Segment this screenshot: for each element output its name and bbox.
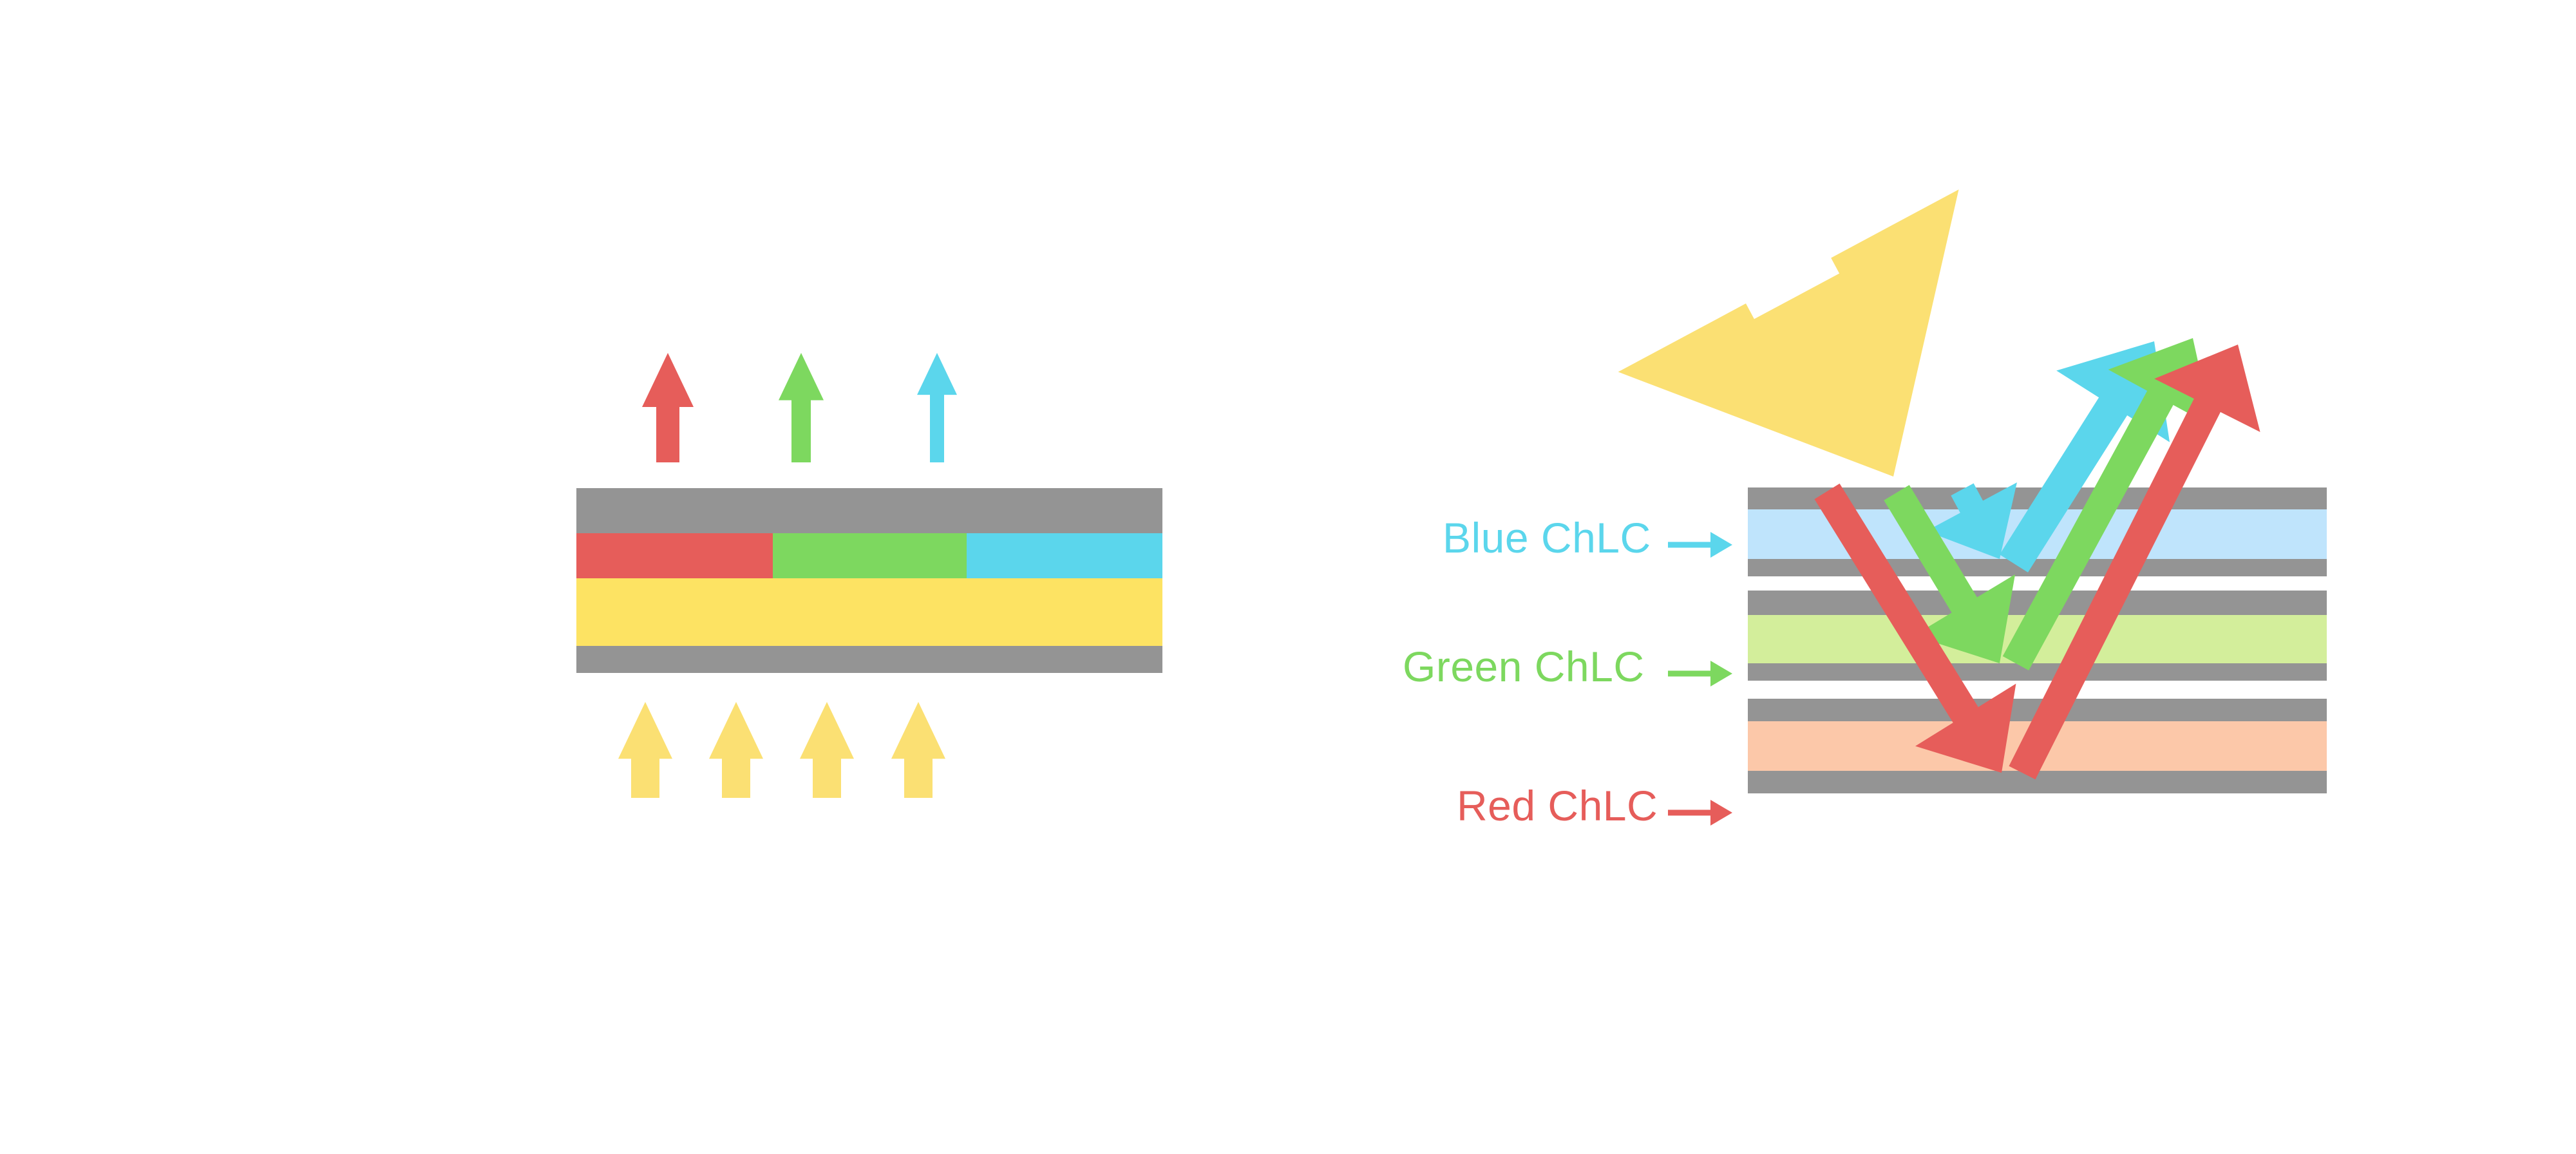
green-chlc-cell-bottom-electrode [1748, 663, 2327, 681]
diagram-svg: Blue ChLCGreen ChLCRed ChLC [0, 0, 2576, 1154]
label-arrow-head [1710, 661, 1732, 686]
backlight-arrow-1 [618, 702, 672, 798]
blue-filter [967, 533, 1162, 578]
red-filter [576, 533, 773, 578]
backlight-arrow-4 [891, 702, 945, 798]
green-chlc-cell-label: Green ChLC [1403, 643, 1645, 690]
label-arrow-head [1710, 532, 1732, 558]
red-chlc-cell-label: Red ChLC [1457, 782, 1658, 829]
blue-emission-arrow [917, 353, 957, 462]
blue-chlc-cell-label-pointer-icon [1668, 532, 1732, 558]
label-arrow-head [1710, 800, 1732, 826]
backlight-arrow-2 [709, 702, 763, 798]
backlight-layer [576, 578, 1162, 646]
green-emission-arrow [779, 353, 824, 462]
backlight-arrow-3 [800, 702, 854, 798]
red-chlc-cell-label-pointer-icon [1668, 800, 1732, 826]
red-emission-arrow [642, 353, 694, 462]
green-filter [773, 533, 967, 578]
bottom-electrode [576, 646, 1162, 673]
figure-canvas: Blue ChLCGreen ChLCRed ChLC [0, 0, 2576, 1154]
top-electrode [576, 488, 1162, 533]
blue-chlc-cell-label: Blue ChLC [1443, 514, 1651, 562]
blue-chlc-cell-bottom-electrode [1748, 559, 2327, 576]
white-light-incident-arrow [1618, 189, 1959, 477]
green-chlc-cell-label-pointer-icon [1668, 661, 1732, 686]
